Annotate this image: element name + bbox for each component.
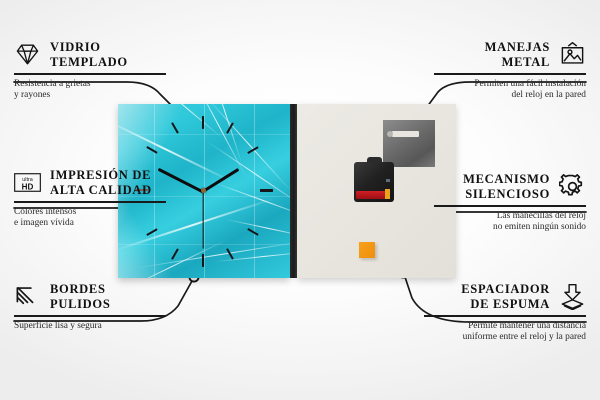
infographic-canvas: VIDRIO TEMPLADO Resistencia a grietas y …	[0, 0, 600, 400]
foam-spacer	[359, 242, 375, 258]
feature-bordes-pulidos: BORDES PULIDOS Superficie lisa y segura	[14, 282, 166, 332]
clock-mechanism	[354, 162, 394, 202]
feature-title-line2: DE ESPUMA	[461, 297, 550, 312]
feature-title-line2: METAL	[485, 55, 550, 70]
clock-tick	[202, 116, 204, 129]
feature-desc-line1: Colores intensos	[14, 207, 166, 219]
feature-desc-line2: no emiten ningún sonido	[434, 222, 586, 234]
diamond-icon	[14, 41, 41, 68]
feature-desc-line1: Permiten una fácil instalación	[434, 79, 586, 91]
feature-title-line1: ESPACIADOR	[461, 282, 550, 297]
feature-rule	[14, 315, 166, 317]
picture-hanger-icon	[559, 41, 586, 68]
feature-rule	[14, 201, 166, 203]
battery	[356, 191, 389, 199]
feature-desc-line1: Superficie lisa y segura	[14, 321, 166, 333]
feature-title-line1: MECANISMO	[463, 172, 550, 187]
feature-mecanismo-silencioso: MECANISMO SILENCIOSO Las manecillas del …	[434, 172, 586, 234]
feature-impresion-alta-calidad: ultra HD IMPRESIÓN DE ALTA CALIDAD Color…	[14, 168, 166, 230]
clock-tick	[171, 122, 179, 133]
product-image	[118, 104, 456, 278]
ultra-hd-icon-bottom-text: HD	[22, 182, 34, 191]
clock-center-pin	[201, 188, 206, 193]
clock-edge	[290, 104, 297, 278]
metal-hanger-plate	[383, 120, 435, 167]
feature-rule	[14, 73, 166, 75]
feature-title-line2: TEMPLADO	[50, 55, 128, 70]
feature-desc-line2: del reloj en la pared	[434, 90, 586, 102]
feature-rule	[434, 73, 586, 75]
clock-tick	[247, 228, 258, 236]
polished-edges-icon	[14, 283, 41, 310]
clock-tick	[146, 146, 157, 154]
feature-desc-line2: uniforme entre el reloj y la pared	[424, 332, 586, 344]
feature-manejas-metal: MANEJAS METAL Permiten una fácil instala…	[434, 40, 586, 102]
feature-title-line2: SILENCIOSO	[463, 187, 550, 202]
feature-rule	[424, 315, 586, 317]
feature-espaciador-de-espuma: ESPACIADOR DE ESPUMA Permite mantener un…	[424, 282, 586, 344]
foam-spacer-icon	[559, 283, 586, 310]
clock-tick	[226, 122, 234, 133]
ultra-hd-icon: ultra HD	[14, 169, 41, 196]
feature-title-line1: MANEJAS	[485, 40, 550, 55]
feature-vidrio-templado: VIDRIO TEMPLADO Resistencia a grietas y …	[14, 40, 166, 102]
feature-desc-line1: Resistencia a grietas	[14, 79, 166, 91]
feature-title-line1: VIDRIO	[50, 40, 128, 55]
feature-title-line1: IMPRESIÓN DE	[50, 168, 152, 183]
clock-hand-second	[202, 191, 203, 249]
feature-desc-line1: Las manecillas del reloj	[434, 211, 586, 223]
feature-desc-line2: y rayones	[14, 90, 166, 102]
clock-tick	[202, 254, 204, 267]
gear-icon	[559, 173, 586, 200]
feature-rule	[434, 205, 586, 207]
feature-title-line1: BORDES	[50, 282, 110, 297]
clock-back-panel	[297, 104, 456, 278]
clock-tick	[171, 248, 179, 259]
feature-desc-line1: Permite mantener una distancia	[424, 321, 586, 333]
clock-tick	[260, 189, 273, 192]
feature-desc-line2: e imagen vívida	[14, 218, 166, 230]
feature-title-line2: PULIDOS	[50, 297, 110, 312]
feature-title-line2: ALTA CALIDAD	[50, 183, 152, 198]
